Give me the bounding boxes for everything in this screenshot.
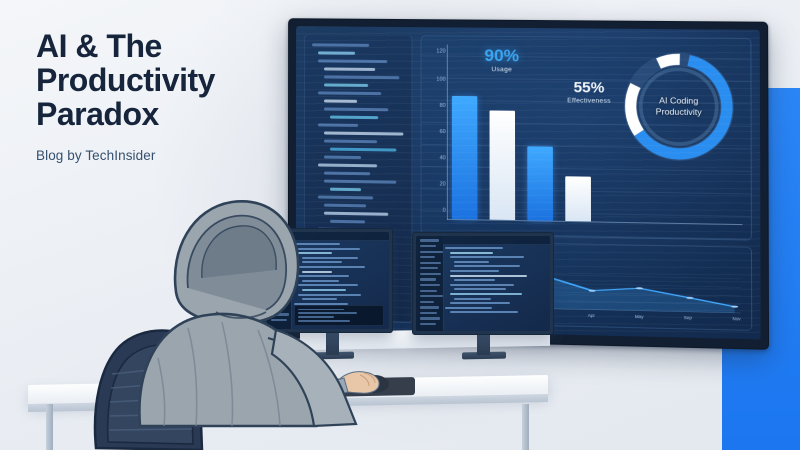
title-line-1: AI & The xyxy=(36,28,162,64)
y-tick: 80 xyxy=(440,103,446,109)
illustration-canvas: AI & The Productivity Paradox Blog by Te… xyxy=(0,0,800,450)
bar-1 xyxy=(452,96,477,219)
y-tick: 20 xyxy=(440,181,446,187)
donut-center-label: AI Coding Productivity xyxy=(615,44,742,170)
headline-block: AI & The Productivity Paradox Blog by Te… xyxy=(36,30,286,163)
x-tick: Nov xyxy=(732,316,740,326)
donut-label-line-2: Productivity xyxy=(656,106,702,117)
x-tick: May xyxy=(635,314,644,324)
stat-effectiveness-label: Effectiveness xyxy=(567,97,611,105)
stat-usage-value: 90% xyxy=(484,47,519,64)
editor-code-area xyxy=(445,247,542,306)
bar-2 xyxy=(490,110,516,220)
dashboard-panel: 120 100 80 60 40 20 0 90% xyxy=(421,35,752,240)
right-desk-monitor xyxy=(412,232,554,335)
y-tick: 40 xyxy=(440,155,446,161)
right-monitor-code-editor xyxy=(416,236,550,331)
desk-leg-right xyxy=(522,404,529,450)
y-tick: 0 xyxy=(443,208,446,214)
stat-effectiveness: 55% Effectiveness xyxy=(567,80,611,105)
donut-label-line-1: AI Coding xyxy=(659,95,698,106)
stat-effectiveness-value: 55% xyxy=(567,80,611,96)
y-tick: 100 xyxy=(436,77,445,83)
bar-chart-axis-line xyxy=(447,45,448,220)
title-line-3: Paradox xyxy=(36,96,159,132)
page-title: AI & The Productivity Paradox xyxy=(36,30,286,132)
editor-tab-bar xyxy=(443,236,550,245)
stat-usage: 90% Usage xyxy=(484,47,519,74)
x-tick: Sep xyxy=(684,315,692,325)
title-line-2: Productivity xyxy=(36,62,215,98)
bar-4 xyxy=(565,176,591,221)
x-tick: Apr xyxy=(588,313,595,323)
page-subtitle: Blog by TechInsider xyxy=(36,148,286,163)
bar-chart-y-axis: 120 100 80 60 40 20 0 xyxy=(426,46,446,219)
person-developer xyxy=(118,188,358,428)
desk-leg-left xyxy=(46,404,53,450)
editor-sidebar xyxy=(416,236,444,331)
donut-chart: AI Coding Productivity xyxy=(615,44,742,170)
stat-usage-label: Usage xyxy=(484,66,519,73)
right-monitor-stand xyxy=(477,335,490,355)
y-tick: 60 xyxy=(440,129,446,135)
bar-3 xyxy=(527,147,553,221)
y-tick: 120 xyxy=(436,48,445,54)
